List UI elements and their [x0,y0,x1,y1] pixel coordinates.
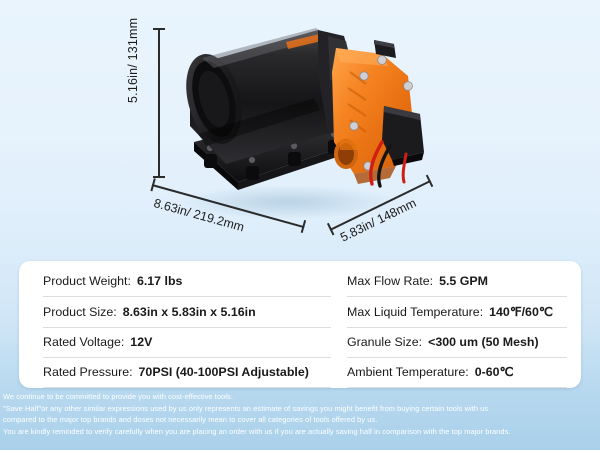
spec-value-product-size: 8.63in x 5.83in x 5.16in [123,306,256,318]
spec-value-max-flow-rate: 5.5 GPM [439,275,488,287]
spec-label-ambient-temperature: Ambient Temperature: [347,366,469,378]
spec-row-product-size: Product Size: 8.63in x 5.83in x 5.16in [43,297,331,327]
spec-row-ambient-temperature: Ambient Temperature: 0-60℃ [347,358,567,388]
specification-column-left: Product Weight: 6.17 lbs Product Size: 8… [19,267,339,388]
spec-row-rated-voltage: Rated Voltage: 12V [43,328,331,358]
spec-value-granule-size: <300 um (50 Mesh) [428,336,539,348]
spec-label-granule-size: Granule Size: [347,336,422,348]
spec-row-product-weight: Product Weight: 6.17 lbs [43,267,331,297]
spec-row-max-liquid-temperature: Max Liquid Temperature: 140℉/60℃ [347,297,567,327]
spec-value-ambient-temperature: 0-60℃ [475,366,514,378]
spec-label-rated-voltage: Rated Voltage: [43,336,124,348]
spec-label-rated-pressure: Rated Pressure: [43,366,133,378]
spec-row-rated-pressure: Rated Pressure: 70PSI (40-100PSI Adjusta… [43,358,331,388]
spec-row-max-flow-rate: Max Flow Rate: 5.5 GPM [347,267,567,297]
product-spec-page: 5.16in/ 131mm 8.63in/ 219.2mm 5.83in/ 14… [0,0,600,450]
disclaimer-line-2: "Save Half"or any other similar expressi… [3,403,599,415]
dimension-line-height [158,28,160,178]
disclaimer-line-4: You are kindly reminded to verify carefu… [3,426,599,438]
product-hero: 5.16in/ 131mm 8.63in/ 219.2mm 5.83in/ 14… [0,0,600,258]
disclaimer-line-1: We continue to be committed to provide y… [3,391,599,403]
spec-label-max-liquid-temperature: Max Liquid Temperature: [347,306,483,318]
spec-label-max-flow-rate: Max Flow Rate: [347,275,433,287]
spec-value-rated-pressure: 70PSI (40-100PSI Adjustable) [139,366,309,378]
spec-label-product-size: Product Size: [43,306,117,318]
spec-label-product-weight: Product Weight: [43,275,131,287]
product-image-water-pump [168,14,428,229]
specification-column-right: Max Flow Rate: 5.5 GPM Max Liquid Temper… [339,267,581,388]
spec-row-granule-size: Granule Size: <300 um (50 Mesh) [347,328,567,358]
disclaimer-line-3: compared to the major top brands and dos… [3,414,599,426]
spec-value-product-weight: 6.17 lbs [137,275,182,287]
specification-grid: Product Weight: 6.17 lbs Product Size: 8… [19,261,581,388]
disclaimer-text: We continue to be committed to provide y… [3,391,599,437]
dimension-label-height: 5.16in/ 131mm [126,18,140,103]
spec-value-max-liquid-temperature: 140℉/60℃ [489,306,553,318]
specification-card: Product Weight: 6.17 lbs Product Size: 8… [19,261,581,388]
spec-value-rated-voltage: 12V [130,336,152,348]
